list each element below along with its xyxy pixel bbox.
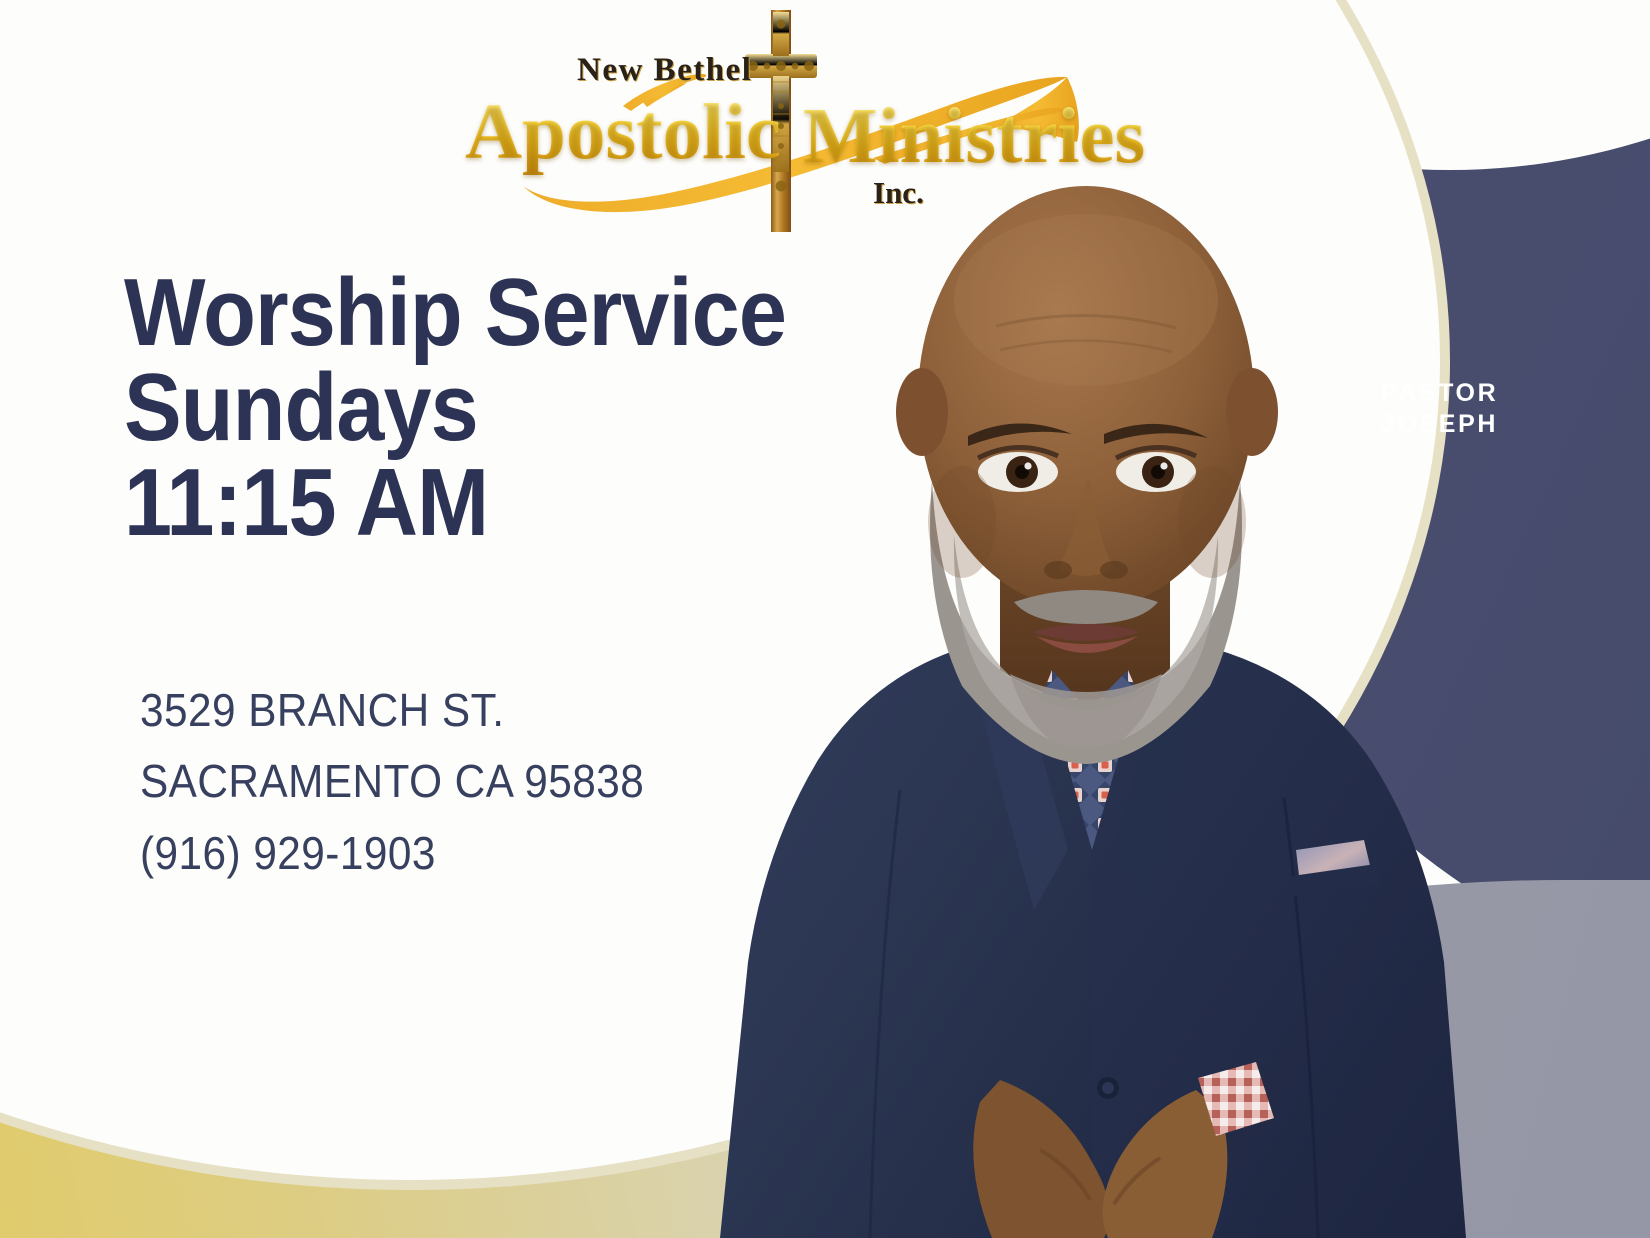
worship-service-flyer: New Bethel Apostolic Ministries Inc. Wor…: [0, 0, 1650, 1238]
headline-block: Worship Service Sundays 11:15 AM: [124, 265, 786, 550]
pastor-portrait: [700, 150, 1480, 1238]
headline-line-2: Sundays: [124, 360, 786, 455]
address-city-state-zip: SACRAMENTO CA 95838: [140, 746, 644, 817]
pastor-label-line-2: JOSEPH: [1352, 409, 1527, 440]
address-block: 3529 BRANCH ST. SACRAMENTO CA 95838 (916…: [140, 675, 644, 889]
headline-line-1: Worship Service: [124, 265, 786, 360]
pastor-name-label: PASTOR JOSEPH: [1352, 378, 1527, 439]
headline-line-3: 11:15 AM: [124, 455, 786, 550]
address-phone[interactable]: (916) 929-1903: [140, 818, 644, 889]
address-street: 3529 BRANCH ST.: [140, 675, 644, 746]
pastor-label-line-1: PASTOR: [1352, 378, 1527, 409]
logo-line-new-bethel: New Bethel: [577, 52, 752, 89]
